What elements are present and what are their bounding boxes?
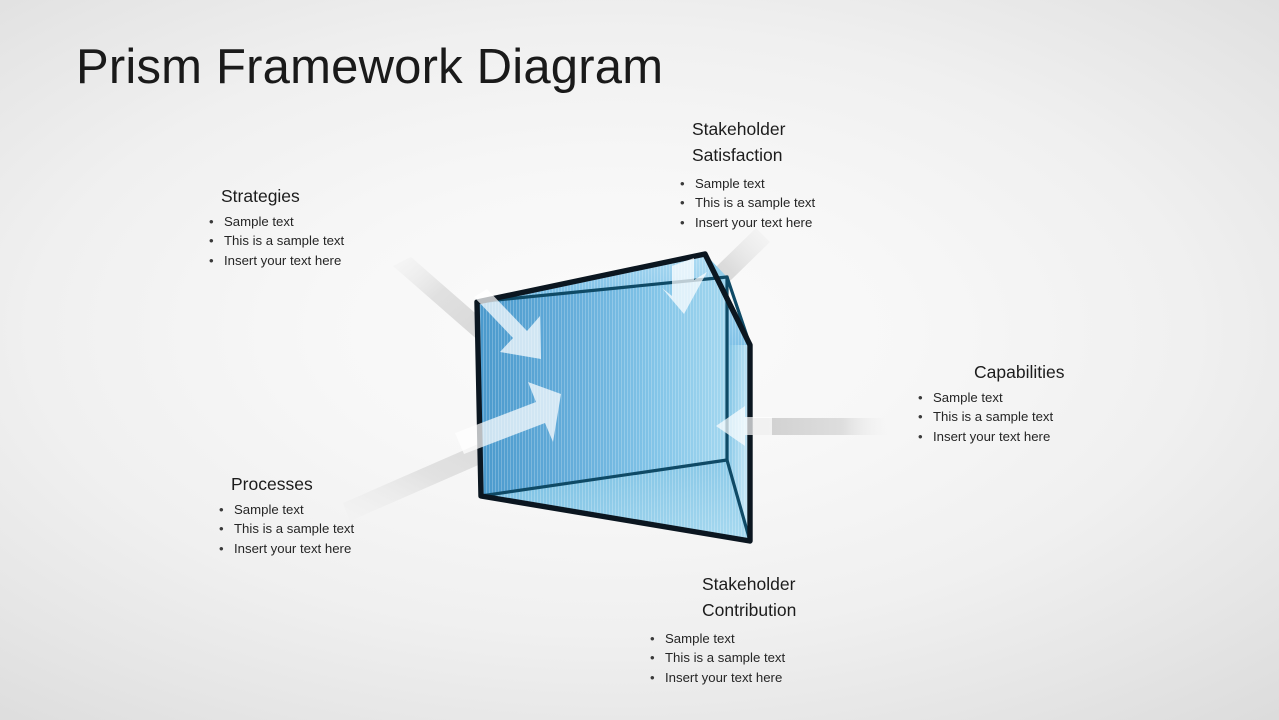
list-item-label: Sample text: [665, 631, 735, 646]
callout-capabilities-heading: Capabilities: [916, 359, 1064, 385]
list-item-label: This is a sample text: [224, 233, 344, 248]
bullet-icon: •: [650, 668, 655, 687]
bullet-icon: •: [680, 193, 685, 212]
bullet-icon: •: [219, 519, 224, 538]
callout-stakeholder-contribution-heading-line2: Contribution: [648, 597, 796, 623]
bullet-icon: •: [209, 231, 214, 250]
list-item: •Sample text: [217, 500, 354, 519]
bullet-icon: •: [918, 427, 923, 446]
callout-capabilities: Capabilities •Sample text •This is a sam…: [916, 359, 1064, 446]
callout-stakeholder-satisfaction: Stakeholder Satisfaction •Sample text •T…: [678, 116, 815, 232]
bullet-icon: •: [680, 174, 685, 193]
list-item: •This is a sample text: [648, 648, 796, 667]
callout-processes-bullets: •Sample text •This is a sample text •Ins…: [217, 500, 354, 558]
callout-capabilities-bullets: •Sample text •This is a sample text •Ins…: [916, 388, 1064, 446]
bullet-icon: •: [918, 388, 923, 407]
bullet-icon: •: [219, 500, 224, 519]
list-item-label: Insert your text here: [224, 253, 341, 268]
list-item: •Sample text: [916, 388, 1064, 407]
list-item: •Insert your text here: [648, 668, 796, 687]
bullet-icon: •: [209, 251, 214, 270]
bullet-icon: •: [650, 629, 655, 648]
list-item-label: This is a sample text: [665, 650, 785, 665]
callout-strategies-heading: Strategies: [207, 183, 344, 209]
list-item-label: Sample text: [695, 176, 765, 191]
callout-stakeholder-contribution-heading-line1: Stakeholder: [648, 571, 796, 597]
list-item-label: Insert your text here: [234, 541, 351, 556]
list-item: •Sample text: [678, 174, 815, 193]
list-item: •Insert your text here: [916, 427, 1064, 446]
slide-canvas: Prism Framework Diagram: [0, 0, 1279, 720]
prism-body: [477, 254, 750, 541]
list-item-label: This is a sample text: [695, 195, 815, 210]
list-item: •This is a sample text: [678, 193, 815, 212]
list-item: •Insert your text here: [207, 251, 344, 270]
list-item-label: Insert your text here: [933, 429, 1050, 444]
bullet-icon: •: [209, 212, 214, 231]
callout-strategies-bullets: •Sample text •This is a sample text •Ins…: [207, 212, 344, 270]
list-item: •This is a sample text: [217, 519, 354, 538]
list-item: •This is a sample text: [916, 407, 1064, 426]
list-item-label: This is a sample text: [933, 409, 1053, 424]
list-item: •Insert your text here: [678, 213, 815, 232]
list-item: •Sample text: [207, 212, 344, 231]
callout-processes-heading: Processes: [217, 471, 354, 497]
callout-stakeholder-satisfaction-heading-line1: Stakeholder: [678, 116, 815, 142]
prism-diagram: [0, 0, 1279, 720]
list-item-label: Sample text: [933, 390, 1003, 405]
list-item: •Insert your text here: [217, 539, 354, 558]
bullet-icon: •: [650, 648, 655, 667]
bullet-icon: •: [918, 407, 923, 426]
callout-strategies: Strategies •Sample text •This is a sampl…: [207, 183, 344, 270]
callout-stakeholder-satisfaction-bullets: •Sample text •This is a sample text •Ins…: [678, 174, 815, 232]
list-item: •Sample text: [648, 629, 796, 648]
list-item-label: Insert your text here: [695, 215, 812, 230]
bullet-icon: •: [680, 213, 685, 232]
list-item-label: Insert your text here: [665, 670, 782, 685]
list-item-label: This is a sample text: [234, 521, 354, 536]
callout-stakeholder-satisfaction-heading-line2: Satisfaction: [678, 142, 815, 168]
list-item: •This is a sample text: [207, 231, 344, 250]
list-item-label: Sample text: [224, 214, 294, 229]
bullet-icon: •: [219, 539, 224, 558]
callout-stakeholder-contribution: Stakeholder Contribution •Sample text •T…: [648, 571, 796, 687]
callout-stakeholder-contribution-bullets: •Sample text •This is a sample text •Ins…: [648, 629, 796, 687]
list-item-label: Sample text: [234, 502, 304, 517]
callout-processes: Processes •Sample text •This is a sample…: [217, 471, 354, 558]
